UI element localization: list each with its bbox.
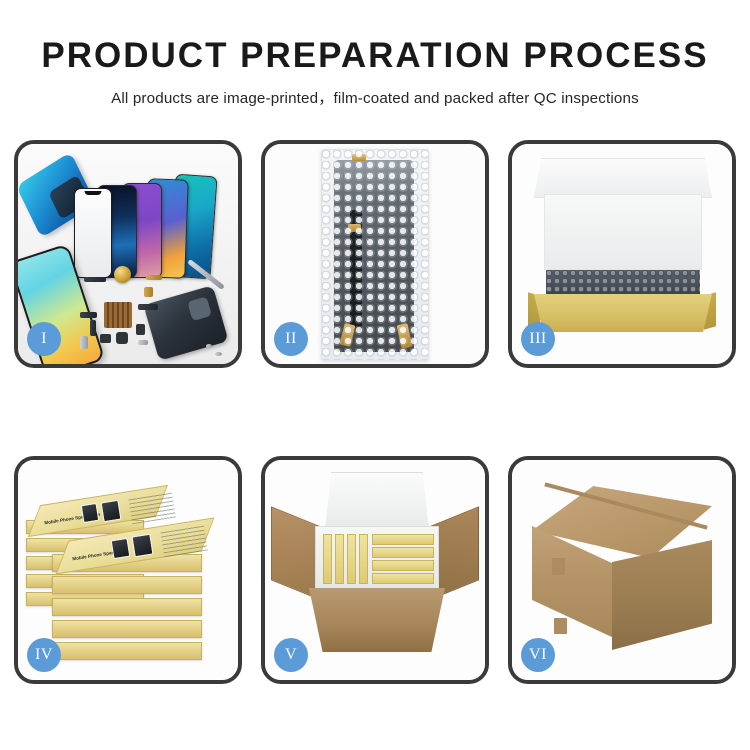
yellow-box	[372, 534, 434, 545]
retail-box	[52, 620, 202, 638]
process-step-1: I	[14, 140, 242, 368]
yellow-box	[359, 534, 368, 584]
phone-back-housing-icon	[143, 285, 228, 361]
process-step-6: VI	[508, 456, 736, 684]
process-step-2: II	[261, 140, 489, 368]
step-number-badge: VI	[521, 638, 555, 672]
carton-front-icon	[309, 588, 445, 652]
spare-part-icon	[138, 340, 148, 345]
phone-thumbnail-icon	[101, 500, 122, 523]
retail-box-stack: Mobile Phone Spare Parts Mobile Phone Sp…	[26, 482, 230, 662]
screw-icon	[215, 352, 222, 356]
bubble-wrap-bag-icon	[321, 149, 429, 361]
spare-part-icon	[146, 275, 162, 280]
phone-thumbnail-icon	[81, 503, 100, 523]
spare-part-icon	[90, 320, 96, 336]
retail-box	[52, 598, 202, 616]
step-number-badge: V	[274, 638, 308, 672]
spare-part-icon	[144, 287, 153, 297]
retail-box	[52, 642, 202, 660]
foam-liner-icon	[544, 194, 702, 270]
page-subtitle: All products are image-printed，film-coat…	[0, 86, 750, 108]
phone-screen-fan	[70, 158, 238, 278]
screw-icon	[206, 344, 212, 348]
process-step-4: Mobile Phone Spare Parts Mobile Phone Sp…	[14, 456, 242, 684]
carton-label-patch-icon	[552, 558, 565, 575]
process-step-5: V	[261, 456, 489, 684]
retail-box	[52, 576, 202, 594]
step-number-badge: I	[27, 322, 61, 356]
foam-lid-icon	[325, 472, 429, 530]
chip-array-part-icon	[104, 302, 132, 328]
box-lid-icon	[534, 158, 712, 198]
yellow-box	[335, 534, 344, 584]
step-number-badge: II	[274, 322, 308, 356]
yellow-box	[372, 573, 434, 584]
yellow-box	[347, 534, 356, 584]
spare-part-icon	[80, 312, 97, 318]
yellow-box	[372, 547, 434, 558]
spare-part-icon	[100, 334, 111, 343]
spare-part-icon	[84, 277, 106, 282]
spare-part-icon	[138, 304, 158, 310]
step-number-badge: III	[521, 322, 555, 356]
gold-coil-part-icon	[114, 266, 131, 283]
gold-tab-icon	[352, 154, 366, 161]
phone-thumbnail-icon	[131, 534, 153, 558]
packed-parts-icon	[546, 270, 700, 296]
spare-part-icon	[116, 332, 128, 344]
process-step-grid: I II	[14, 140, 736, 696]
phone-thumbnail-icon	[111, 538, 131, 559]
gold-tab-icon	[348, 224, 361, 232]
phone-screen-icon	[74, 188, 112, 278]
header: PRODUCT PREPARATION PROCESS All products…	[0, 0, 750, 108]
carton-right-face-icon	[612, 540, 712, 650]
yellow-box	[323, 534, 332, 584]
spare-part-icon	[136, 324, 145, 335]
retail-box-spec-lines	[160, 525, 208, 558]
yellow-box	[372, 560, 434, 571]
product-preparation-infographic: PRODUCT PREPARATION PROCESS All products…	[0, 0, 750, 750]
kraft-box-front-icon	[534, 294, 712, 332]
carton-label-patch-icon	[554, 618, 567, 634]
page-title: PRODUCT PREPARATION PROCESS	[0, 38, 750, 75]
process-step-3: III	[508, 140, 736, 368]
step-number-badge: IV	[27, 638, 61, 672]
retail-box-spec-lines	[128, 492, 176, 525]
phone-notch-icon	[85, 191, 102, 195]
spare-part-icon	[80, 336, 88, 349]
